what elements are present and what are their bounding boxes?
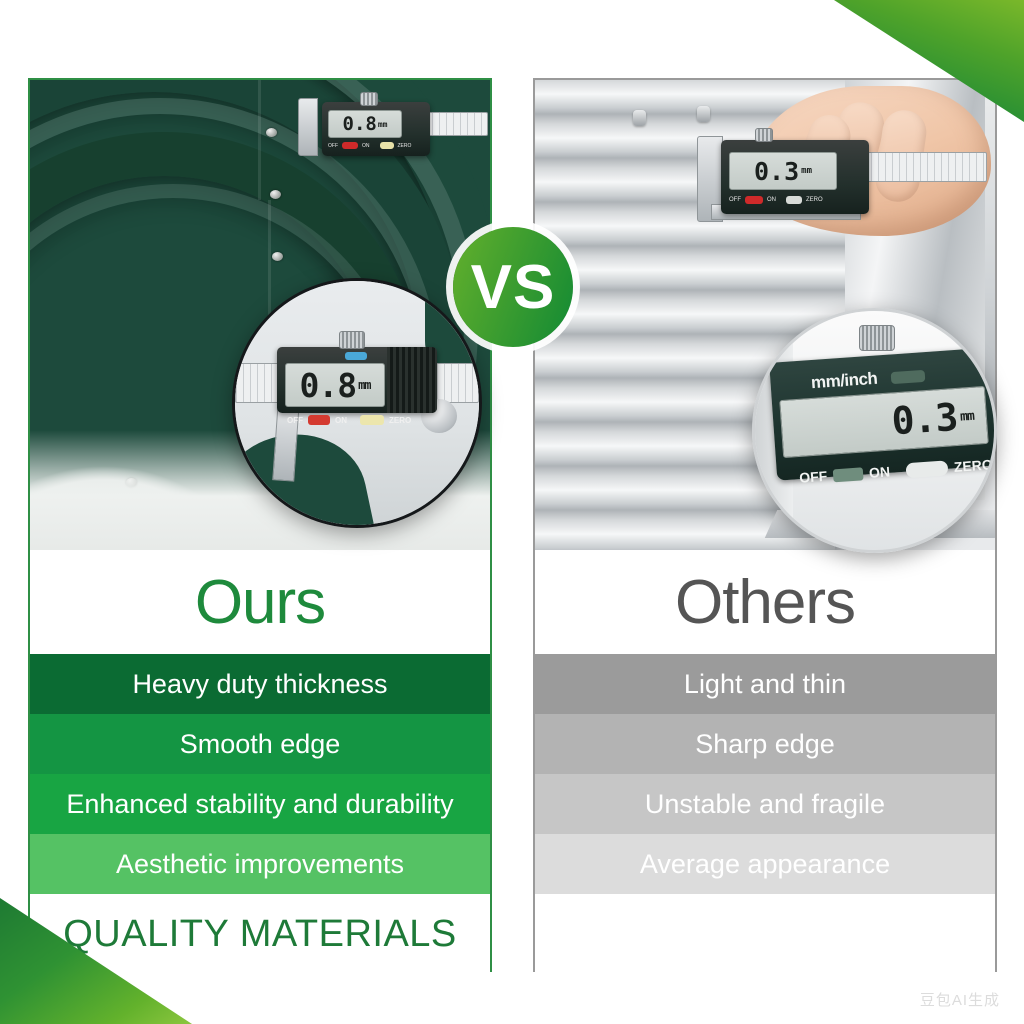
magnified-mode-button: [891, 370, 926, 384]
caliper-lcd-small: 0.8mm: [328, 110, 402, 138]
caliper-scale: [863, 152, 987, 182]
magnified-caliper-thumbwheel-right: [859, 325, 895, 351]
right-feature-list: Light and thin Sharp edge Unstable and f…: [535, 654, 995, 894]
caliper-zero-button: [380, 142, 394, 149]
left-panel-title: Ours: [195, 567, 325, 638]
magnified-on-label-right: ON: [869, 463, 891, 480]
magnified-caliper-grip: [387, 347, 437, 413]
caliper-zero-button: [786, 196, 802, 204]
left-feature-row-4: Aesthetic improvements: [30, 834, 490, 894]
caliper-reading-unit: mm: [378, 120, 388, 129]
magnified-off-label-right: OFF: [799, 468, 828, 486]
magnified-reading-value-left: 0.8: [299, 366, 356, 405]
right-panel-title: Others: [675, 567, 855, 638]
right-magnifier-circle: mm/inch 0.3mm OFF ON ZERO: [752, 308, 997, 553]
caliper-thumbwheel: [755, 128, 773, 142]
comparison-infographic: 0.8mm OFF ON ZERO Ours Heavy duty thickn…: [0, 0, 1024, 1024]
left-feature-label-2: Smooth edge: [180, 729, 341, 760]
magnified-reading-unit-left: mm: [358, 378, 370, 392]
caliper-on-label: ON: [362, 143, 370, 149]
left-footer-band: QUALITY MATERIALS: [30, 894, 490, 974]
caliper-reading-value: 0.8: [343, 113, 377, 135]
magnified-reading-value-right: 0.3: [890, 395, 959, 443]
right-feature-row-4: Average appearance: [535, 834, 995, 894]
right-feature-label-2: Sharp edge: [695, 729, 835, 760]
caliper-off-label: OFF: [729, 197, 741, 203]
bolt: [266, 128, 277, 137]
left-feature-label-1: Heavy duty thickness: [132, 669, 387, 700]
right-feature-row-1: Light and thin: [535, 654, 995, 714]
left-feature-label-3: Enhanced stability and durability: [66, 789, 453, 820]
caliper-tool-main: 0.3mm OFF ON ZERO: [697, 118, 987, 228]
vs-badge: VS: [453, 227, 573, 347]
right-feature-row-2: Sharp edge: [535, 714, 995, 774]
magnified-power-switch-left: [308, 415, 330, 425]
magnified-power-switch-right: [833, 467, 864, 482]
bolt: [272, 252, 283, 261]
right-feature-label-1: Light and thin: [684, 669, 846, 700]
left-panel-ours: 0.8mm OFF ON ZERO Ours Heavy duty thickn…: [28, 78, 492, 972]
caliper-zero-label: ZERO: [398, 143, 412, 149]
magnified-caliper-lcd-left: 0.8mm: [285, 363, 385, 407]
magnified-caliper-thumbwheel: [339, 331, 365, 349]
bolt: [270, 190, 281, 199]
left-title-band: Ours: [30, 550, 490, 654]
caliper-zero-label: ZERO: [806, 197, 823, 203]
watermark-label: 豆包AI生成: [920, 989, 1000, 1010]
magnified-off-label-left: OFF: [287, 416, 303, 425]
right-title-band: Others: [535, 550, 995, 654]
caliper-reading-unit: mm: [801, 166, 812, 176]
magnified-zero-button-left: [360, 415, 384, 425]
quality-materials-label: QUALITY MATERIALS: [63, 913, 457, 956]
right-feature-label-3: Unstable and fragile: [645, 789, 885, 820]
left-magnifier-circle: 0.8mm OFF ON ZERO: [232, 278, 482, 528]
magnified-caliper-indicator: [345, 352, 367, 360]
caliper-off-label: OFF: [328, 143, 338, 149]
caliper-on-label: ON: [767, 197, 776, 203]
left-feature-row-3: Enhanced stability and durability: [30, 774, 490, 834]
magnified-zero-label-left: ZERO: [389, 416, 411, 425]
left-feature-row-2: Smooth edge: [30, 714, 490, 774]
magnified-zero-button-right: [905, 460, 948, 478]
panel-seam: [258, 80, 261, 200]
magnified-reading-unit-right: mm: [960, 408, 975, 424]
right-footer-band: [535, 894, 995, 974]
left-feature-list: Heavy duty thickness Smooth edge Enhance…: [30, 654, 490, 894]
magnified-on-label-left: ON: [335, 416, 347, 425]
caliper-tool-small: 0.8mm OFF ON ZERO: [298, 92, 488, 166]
left-feature-row-1: Heavy duty thickness: [30, 654, 490, 714]
right-feature-label-4: Average appearance: [640, 849, 890, 880]
rivet: [633, 110, 646, 126]
caliper-power-switch: [342, 142, 358, 149]
magnified-zero-label-right: ZERO: [953, 456, 993, 475]
caliper-thumbwheel: [360, 92, 378, 106]
caliper-lcd-main: 0.3mm: [729, 152, 837, 190]
vs-badge-label: VS: [471, 252, 556, 323]
caliper-reading-value: 0.3: [754, 157, 799, 186]
right-feature-row-3: Unstable and fragile: [535, 774, 995, 834]
left-feature-label-4: Aesthetic improvements: [116, 849, 404, 880]
caliper-jaw: [298, 98, 318, 156]
caliper-power-switch: [745, 196, 763, 204]
